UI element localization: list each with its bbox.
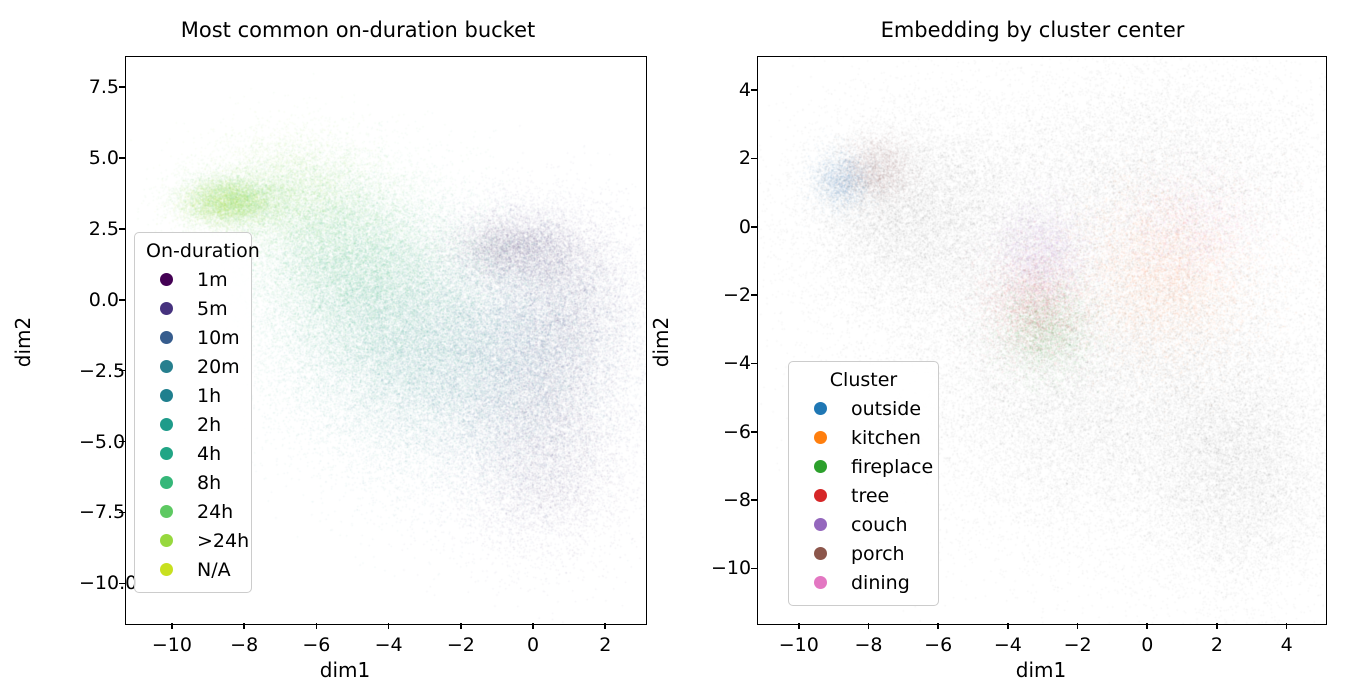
x-tick-label: −4: [994, 634, 1022, 656]
y-tick-mark: [751, 363, 757, 365]
legend-on-duration-item-20m[interactable]: 20m: [146, 352, 240, 381]
y-tick-mark: [119, 228, 125, 230]
y-tick-mark: [119, 370, 125, 372]
legend-item-label: N/A: [197, 559, 231, 581]
legend-marker-icon: [160, 389, 173, 402]
y-tick-mark: [119, 583, 125, 585]
y-tick-label: −10: [711, 557, 751, 579]
legend-marker-icon: [160, 273, 173, 286]
y-tick-label: 4: [711, 79, 751, 101]
figure-root: Most common on-duration bucket 7.55.02.5…: [0, 0, 1349, 699]
legend-title-cluster: Cluster: [800, 369, 927, 391]
y-tick-label: −7.5: [79, 501, 119, 523]
x-tick-mark: [316, 623, 318, 629]
legend-marker-icon: [160, 505, 173, 518]
y-tick-label: 5.0: [79, 147, 119, 169]
x-tick-mark: [1146, 623, 1148, 629]
legend-marker-icon: [814, 460, 827, 473]
legend-on-duration-item-1h[interactable]: 1h: [146, 381, 240, 410]
x-tick-mark: [1216, 623, 1218, 629]
y-tick-label: −6: [711, 421, 751, 443]
legend-item-label: kitchen: [851, 427, 921, 449]
legend-on-duration-item-5m[interactable]: 5m: [146, 294, 240, 323]
x-tick-mark: [1077, 623, 1079, 629]
legend-marker-icon: [160, 476, 173, 489]
x-tick-mark: [1007, 623, 1009, 629]
x-tick-label: −6: [924, 634, 952, 656]
y-tick-mark: [751, 158, 757, 160]
y-tick-label: −4: [711, 352, 751, 374]
y-tick-label: −10.0: [79, 572, 119, 594]
x-tick-label: 0: [527, 634, 539, 656]
legend-cluster[interactable]: Cluster outsidekitchenfireplacetreecouch…: [788, 361, 939, 606]
y-tick-mark: [119, 86, 125, 88]
y-tick-label: 2: [711, 147, 751, 169]
x-tick-mark: [460, 623, 462, 629]
legend-cluster-item-outside[interactable]: outside: [800, 394, 927, 423]
legend-marker-icon: [160, 534, 173, 547]
legend-marker-icon: [160, 418, 173, 431]
x-tick-mark: [868, 623, 870, 629]
y-tick-mark: [119, 441, 125, 443]
y-tick-mark: [751, 499, 757, 501]
y-axis-label-right: dim2: [649, 317, 673, 367]
legend-marker-icon: [814, 576, 827, 589]
legend-on-duration-item-1m[interactable]: 1m: [146, 265, 240, 294]
legend-item-label: 1h: [197, 385, 221, 407]
legend-on-duration-item-8h[interactable]: 8h: [146, 468, 240, 497]
cluster-panel: Embedding by cluster center 420−2−4−6−8−…: [674, 0, 1349, 699]
legend-on-duration[interactable]: On-duration 1m5m10m20m1h2h4h8h24h>24hN/A: [134, 232, 252, 593]
legend-on-duration-item-na[interactable]: N/A: [146, 555, 240, 584]
x-tick-label: −8: [854, 634, 882, 656]
x-tick-mark: [532, 623, 534, 629]
panel-title-right: Embedding by cluster center: [734, 18, 1331, 42]
legend-marker-icon: [814, 402, 827, 415]
x-tick-label: 2: [1211, 634, 1223, 656]
legend-cluster-item-kitchen[interactable]: kitchen: [800, 423, 927, 452]
x-axis-label-left: dim1: [320, 658, 370, 682]
y-tick-mark: [751, 568, 757, 570]
y-tick-label: −2.5: [79, 360, 119, 382]
legend-marker-icon: [160, 331, 173, 344]
y-tick-label: 0.0: [79, 289, 119, 311]
legend-on-duration-item-4h[interactable]: 4h: [146, 439, 240, 468]
x-tick-label: −4: [375, 634, 403, 656]
legend-item-label: 2h: [197, 414, 221, 436]
legend-item-label: 5m: [197, 298, 228, 320]
legend-item-label: 24h: [197, 501, 233, 523]
x-tick-label: −10: [152, 634, 192, 656]
x-tick-mark: [1286, 623, 1288, 629]
panel-title-left: Most common on-duration bucket: [60, 18, 656, 42]
x-tick-label: −2: [447, 634, 475, 656]
x-tick-mark: [937, 623, 939, 629]
legend-item-label: 1m: [197, 269, 228, 291]
y-tick-mark: [751, 89, 757, 91]
legend-cluster-item-dining[interactable]: dining: [800, 568, 927, 597]
x-tick-mark: [171, 623, 173, 629]
x-tick-label: 2: [599, 634, 611, 656]
legend-item-label: 8h: [197, 472, 221, 494]
x-axis-label-right: dim1: [1016, 658, 1066, 682]
legend-on-duration-item-24h[interactable]: >24h: [146, 526, 240, 555]
x-tick-mark: [604, 623, 606, 629]
y-tick-label: −5.0: [79, 431, 119, 453]
legend-item-label: couch: [851, 514, 908, 536]
legend-on-duration-item-2h[interactable]: 2h: [146, 410, 240, 439]
legend-marker-icon: [160, 302, 173, 315]
x-tick-mark: [243, 623, 245, 629]
x-tick-label: −6: [302, 634, 330, 656]
y-axis-label-left: dim2: [11, 317, 35, 367]
legend-marker-icon: [814, 431, 827, 444]
legend-item-label: outside: [851, 398, 921, 420]
legend-marker-icon: [160, 447, 173, 460]
legend-item-label: porch: [851, 543, 905, 565]
legend-cluster-item-porch[interactable]: porch: [800, 539, 927, 568]
y-tick-mark: [751, 294, 757, 296]
x-tick-label: 0: [1141, 634, 1153, 656]
on-duration-panel: Most common on-duration bucket 7.55.02.5…: [0, 0, 674, 699]
x-tick-mark: [388, 623, 390, 629]
y-tick-mark: [119, 157, 125, 159]
legend-item-label: >24h: [197, 530, 249, 552]
legend-marker-icon: [814, 518, 827, 531]
legend-item-label: 4h: [197, 443, 221, 465]
x-tick-label: −10: [779, 634, 819, 656]
legend-cluster-item-fireplace[interactable]: fireplace: [800, 452, 927, 481]
y-tick-label: 2.5: [79, 218, 119, 240]
y-tick-mark: [751, 431, 757, 433]
legend-cluster-item-couch[interactable]: couch: [800, 510, 927, 539]
legend-item-label: tree: [851, 485, 889, 507]
y-tick-label: −8: [711, 489, 751, 511]
x-tick-label: −2: [1064, 634, 1092, 656]
y-tick-mark: [119, 512, 125, 514]
legend-marker-icon: [160, 360, 173, 373]
y-tick-label: 0: [711, 216, 751, 238]
y-tick-label: −2: [711, 284, 751, 306]
legend-marker-icon: [814, 489, 827, 502]
legend-marker-icon: [814, 547, 827, 560]
legend-marker-icon: [160, 563, 173, 576]
legend-item-label: dining: [851, 572, 910, 594]
y-tick-mark: [751, 226, 757, 228]
legend-on-duration-item-24h[interactable]: 24h: [146, 497, 240, 526]
x-tick-label: 4: [1281, 634, 1293, 656]
y-tick-mark: [119, 299, 125, 301]
x-tick-mark: [798, 623, 800, 629]
legend-item-label: 10m: [197, 327, 240, 349]
legend-item-label: 20m: [197, 356, 240, 378]
legend-item-label: fireplace: [851, 456, 933, 478]
legend-cluster-item-tree[interactable]: tree: [800, 481, 927, 510]
x-tick-label: −8: [230, 634, 258, 656]
legend-on-duration-item-10m[interactable]: 10m: [146, 323, 240, 352]
y-tick-label: 7.5: [79, 76, 119, 98]
legend-title-on-duration: On-duration: [146, 240, 240, 262]
